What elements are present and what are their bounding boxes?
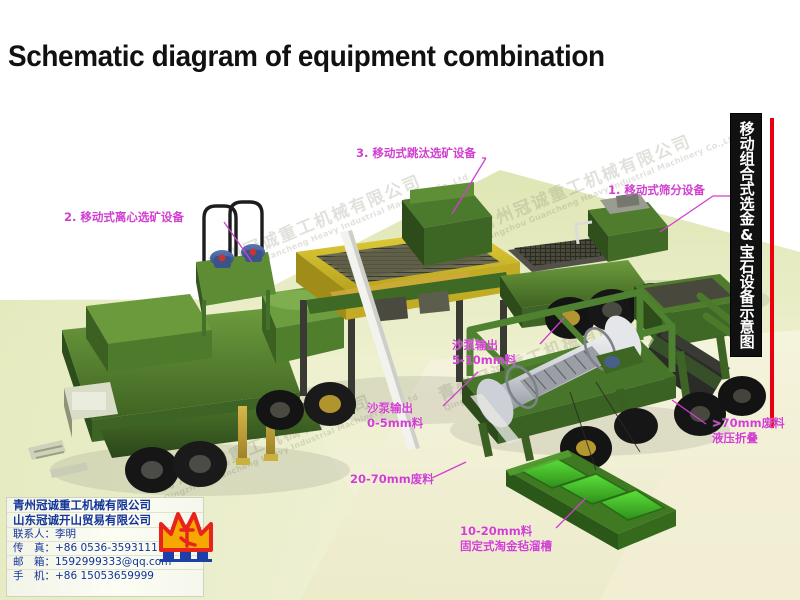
label-sand-pump-5-10-line2: 5-10mm料 <box>452 353 516 367</box>
contact-mobile-label: 手 机 <box>13 571 45 582</box>
callout-1-label: 1. 移动式筛分设备 <box>608 183 705 197</box>
contact-fax-value: +86 0536-3593111 <box>55 543 158 554</box>
company-logo-icon <box>157 506 215 568</box>
label-sluice-10-20-line1: 10-20mm料 <box>460 524 532 538</box>
contact-person-label: 联系人 <box>13 529 45 540</box>
contact-mobile-row: 手 机：+86 15053659999 <box>7 570 203 583</box>
label-waste-20-70-text: 20-70mm废料 <box>350 472 434 486</box>
vertical-banner: 移动组合式选金&宝石设备示意图 <box>730 113 762 357</box>
callout-3-label: 3. 移动式跳汰选矿设备 <box>356 146 476 160</box>
label-sand-pump-0-5-line2: 0-5mm料 <box>367 416 423 430</box>
callout-2: 2. 移动式离心选矿设备 <box>64 210 184 225</box>
callout-2-label: 2. 移动式离心选矿设备 <box>64 210 184 224</box>
label-waste-over-70-line2: 液压折叠 <box>712 431 758 445</box>
contact-mobile-value: +86 15053659999 <box>55 571 154 582</box>
label-waste-over-70-line1: >70mm废料 <box>712 416 785 430</box>
contact-fax-label: 传 真 <box>13 543 45 554</box>
label-sand-pump-0-5: 沙泵输出 0-5mm料 <box>367 401 423 430</box>
diagram-canvas: 青州冠诚重工机械有限公司 Qingzhou Guancheng Heavy In… <box>0 0 800 600</box>
callout-1: 1. 移动式筛分设备 <box>608 183 705 198</box>
label-sand-pump-5-10: 沙泵输出 5-10mm料 <box>452 338 516 367</box>
vertical-banner-text: 移动组合式选金&宝石设备示意图 <box>738 121 753 349</box>
label-waste-20-70: 20-70mm废料 <box>350 472 434 487</box>
label-waste-over-70: >70mm废料 液压折叠 <box>712 416 785 445</box>
equipment-centrifugal-unit <box>28 202 344 493</box>
label-sand-pump-0-5-line1: 沙泵输出 <box>367 401 413 415</box>
label-sand-pump-5-10-line1: 沙泵输出 <box>452 338 498 352</box>
contact-person-value: 李明 <box>55 529 76 540</box>
contact-email-label: 邮 箱 <box>13 557 45 568</box>
page-title: Schematic diagram of equipment combinati… <box>8 40 605 74</box>
red-accent-bar <box>770 118 774 428</box>
contact-email-value: 1592999333@qq.com <box>55 557 171 568</box>
label-sluice-10-20: 10-20mm料 固定式淘金毡溜槽 <box>460 524 552 553</box>
label-sluice-10-20-line2: 固定式淘金毡溜槽 <box>460 539 552 553</box>
callout-3: 3. 移动式跳汰选矿设备 <box>356 146 476 161</box>
